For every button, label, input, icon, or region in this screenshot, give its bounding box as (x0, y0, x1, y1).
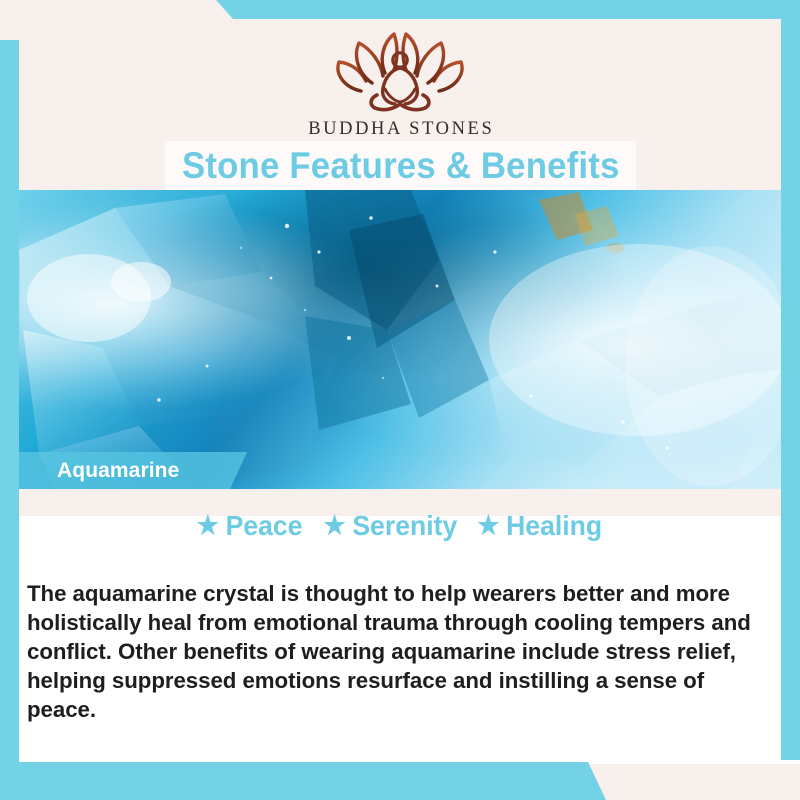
poster-root: Aquamarine (0, 0, 800, 800)
page-title: Stone Features & Benefits (182, 147, 620, 184)
keyword-label: Peace (226, 512, 303, 540)
stone-name-label: Aquamarine (57, 459, 179, 483)
stone-name-tab: Aquamarine (19, 452, 247, 489)
brand-logo: BUDDHA STONES (306, 29, 495, 140)
star-icon: ★ (197, 512, 219, 538)
keyword-label: Serenity (352, 512, 457, 540)
description-paragraph: The aquamarine crystal is thought to hel… (27, 579, 764, 724)
lotus-meditation-figure-icon (325, 29, 475, 115)
keyword-healing: ★ Healing (478, 512, 603, 540)
hero-image (19, 190, 781, 489)
star-icon: ★ (323, 512, 345, 538)
star-icon: ★ (478, 512, 500, 538)
keyword-peace: ★ Peace (197, 512, 303, 540)
keyword-label: Healing (506, 512, 602, 540)
title-banner: Stone Features & Benefits (165, 141, 636, 190)
keyword-list: ★ Peace ★ Serenity ★ Healing (0, 512, 800, 540)
brand-name: BUDDHA STONES (306, 119, 495, 140)
keyword-serenity: ★ Serenity (323, 512, 457, 540)
